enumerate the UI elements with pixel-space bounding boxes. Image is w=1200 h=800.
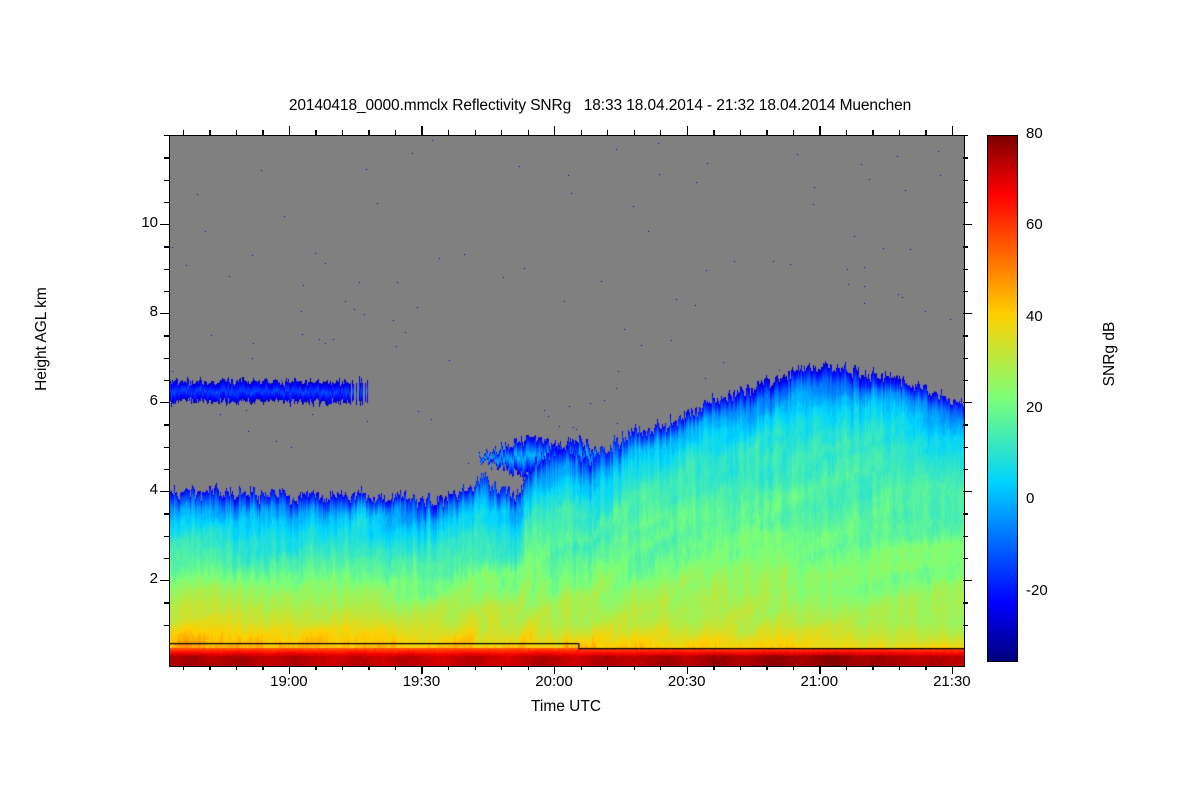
x-minor-tick-top [925, 130, 926, 135]
x-tick-label: 20:00 [509, 673, 599, 690]
x-minor-tick [475, 665, 476, 670]
y-minor-tick [164, 335, 169, 336]
x-minor-tick-top [528, 130, 529, 135]
x-minor-tick-top [952, 130, 953, 135]
x-minor-tick [236, 665, 237, 670]
y-axis-label: Height AGL km [33, 239, 51, 439]
x-minor-tick [209, 665, 210, 670]
x-minor-tick-top [899, 130, 900, 135]
x-minor-tick-top [368, 130, 369, 135]
x-minor-tick-top [872, 130, 873, 135]
y-major-tick [160, 402, 169, 403]
y-minor-tick-right [963, 291, 968, 292]
y-minor-tick [164, 157, 169, 158]
x-minor-tick-top [687, 130, 688, 135]
x-minor-tick [448, 665, 449, 670]
y-minor-tick-right [963, 536, 968, 537]
y-minor-tick [164, 447, 169, 448]
x-minor-tick [581, 665, 582, 670]
y-minor-tick-right [963, 358, 968, 359]
y-minor-tick-right [963, 447, 968, 448]
y-minor-tick-right [963, 202, 968, 203]
y-minor-tick [164, 536, 169, 537]
x-minor-tick-top [289, 130, 290, 135]
x-minor-tick [607, 665, 608, 670]
y-minor-tick-right [963, 380, 968, 381]
y-minor-tick-right [963, 335, 968, 336]
x-minor-tick-top [421, 130, 422, 135]
y-minor-tick [164, 558, 169, 559]
x-minor-tick-top [634, 130, 635, 135]
y-major-tick [160, 580, 169, 581]
x-minor-tick [183, 665, 184, 670]
x-minor-tick [528, 665, 529, 670]
y-tick-label: 2 [98, 570, 158, 587]
y-minor-tick-right [963, 602, 968, 603]
x-minor-tick [395, 665, 396, 670]
y-minor-tick-right [963, 269, 968, 270]
x-minor-tick-top [793, 130, 794, 135]
y-minor-tick [164, 602, 169, 603]
x-minor-tick [262, 665, 263, 670]
y-tick-label: 8 [98, 303, 158, 320]
x-minor-tick [766, 665, 767, 670]
x-minor-tick-top [395, 130, 396, 135]
colorbar-tick-label: 40 [1026, 308, 1043, 325]
y-major-tick-right [963, 491, 972, 492]
y-minor-tick-right [963, 135, 968, 136]
x-tick-label: 19:00 [244, 673, 334, 690]
colorbar-label: SNRg dB [1101, 254, 1119, 454]
x-minor-tick-top [713, 130, 714, 135]
y-major-tick [160, 491, 169, 492]
y-minor-tick [164, 469, 169, 470]
colorbar-tick-label: 0 [1026, 490, 1034, 507]
y-minor-tick-right [963, 513, 968, 514]
x-minor-tick-top [448, 130, 449, 135]
y-minor-tick [164, 424, 169, 425]
y-tick-label: 10 [98, 214, 158, 231]
plot-axes [169, 135, 965, 667]
x-minor-tick [846, 665, 847, 670]
y-minor-tick-right [963, 558, 968, 559]
x-minor-tick [713, 665, 714, 670]
x-tick-label: 21:30 [907, 673, 997, 690]
y-major-tick [160, 313, 169, 314]
y-major-tick-right [963, 313, 972, 314]
x-minor-tick [501, 665, 502, 670]
x-minor-tick-top [766, 130, 767, 135]
colorbar-tick-label: 60 [1026, 216, 1043, 233]
y-minor-tick [164, 513, 169, 514]
y-minor-tick-right [963, 157, 968, 158]
colorbar-gradient [988, 136, 1017, 661]
colorbar-tick-label: -20 [1026, 582, 1048, 599]
x-tick-label: 21:00 [774, 673, 864, 690]
x-minor-tick [740, 665, 741, 670]
x-axis-label: Time UTC [169, 698, 963, 716]
x-minor-tick [872, 665, 873, 670]
y-minor-tick-right [963, 180, 968, 181]
y-minor-tick-right [963, 246, 968, 247]
x-minor-tick-top [554, 130, 555, 135]
colorbar [987, 135, 1018, 662]
y-minor-tick-right [963, 424, 968, 425]
y-minor-tick [164, 135, 169, 136]
x-minor-tick [315, 665, 316, 670]
x-minor-tick-top [183, 130, 184, 135]
x-minor-tick-top [209, 130, 210, 135]
y-minor-tick [164, 380, 169, 381]
colorbar-tick-label: 20 [1026, 399, 1043, 416]
x-minor-tick-top [819, 130, 820, 135]
x-minor-tick-top [315, 130, 316, 135]
y-minor-tick [164, 269, 169, 270]
radar-figure: 20140418_0000.mmclx Reflectivity SNRg 18… [0, 0, 1200, 800]
y-minor-tick-right [963, 469, 968, 470]
x-minor-tick-top [475, 130, 476, 135]
x-minor-tick [634, 665, 635, 670]
x-minor-tick-top [501, 130, 502, 135]
x-minor-tick-top [740, 130, 741, 135]
y-minor-tick [164, 625, 169, 626]
x-minor-tick-top [660, 130, 661, 135]
y-major-tick-right [963, 224, 972, 225]
y-minor-tick [164, 246, 169, 247]
y-major-tick [160, 224, 169, 225]
y-tick-label: 4 [98, 481, 158, 498]
x-minor-tick-top [846, 130, 847, 135]
x-tick-label: 20:30 [642, 673, 732, 690]
x-minor-tick-top [342, 130, 343, 135]
x-minor-tick [899, 665, 900, 670]
x-minor-tick [793, 665, 794, 670]
colorbar-tick-label: 80 [1026, 125, 1043, 142]
y-minor-tick [164, 202, 169, 203]
x-minor-tick-top [262, 130, 263, 135]
y-tick-label: 6 [98, 392, 158, 409]
x-minor-tick [660, 665, 661, 670]
x-minor-tick-top [236, 130, 237, 135]
x-minor-tick [925, 665, 926, 670]
x-minor-tick-top [581, 130, 582, 135]
x-minor-tick-top [607, 130, 608, 135]
y-major-tick-right [963, 402, 972, 403]
y-minor-tick [164, 358, 169, 359]
y-minor-tick [164, 291, 169, 292]
y-minor-tick-right [963, 625, 968, 626]
reflectivity-heatmap [170, 136, 964, 666]
x-minor-tick [342, 665, 343, 670]
x-minor-tick [368, 665, 369, 670]
y-major-tick-right [963, 580, 972, 581]
y-minor-tick [164, 180, 169, 181]
page-title: 20140418_0000.mmclx Reflectivity SNRg 18… [0, 97, 1200, 115]
x-tick-label: 19:30 [376, 673, 466, 690]
